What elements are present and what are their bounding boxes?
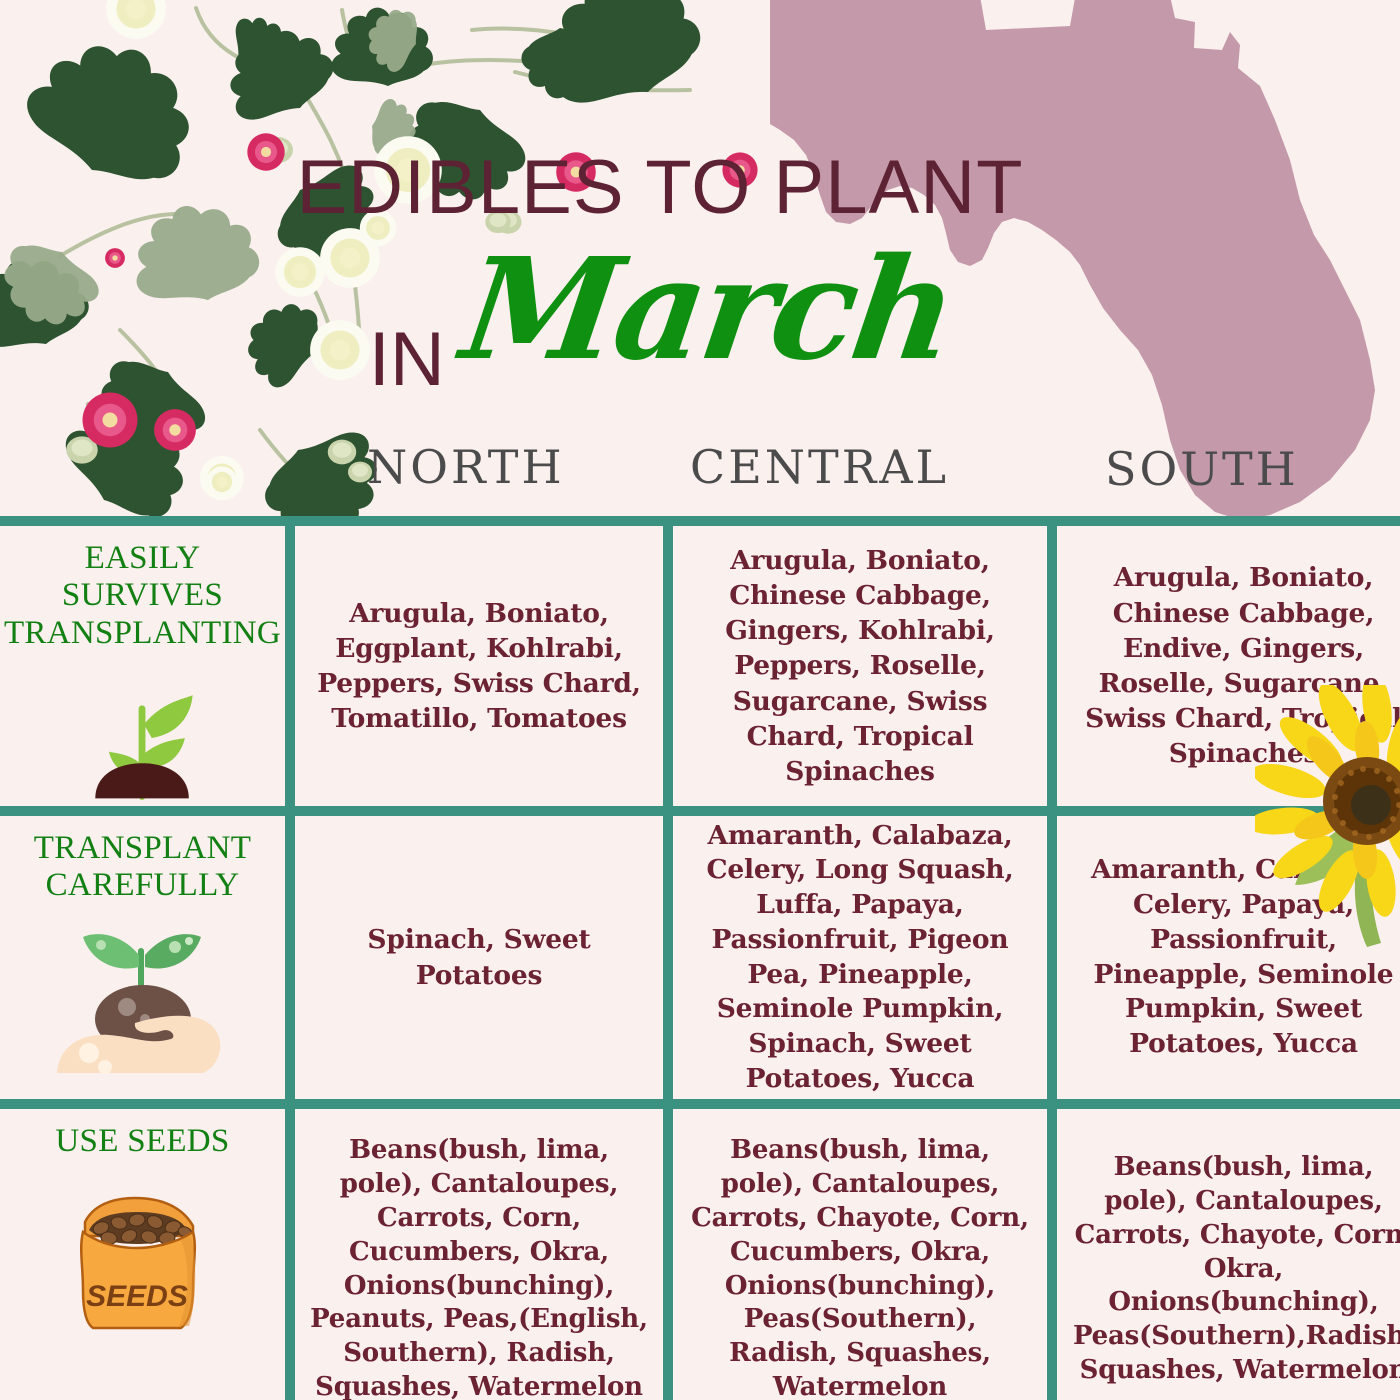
row-label-text: TRANSPLANT CAREFULLY: [34, 830, 252, 905]
plant-list-central-3: Beans(bush, lima, pole), Cantaloupes, Ca…: [673, 1130, 1047, 1400]
row-label-cell-easily-survives-transplanting: EASILY SURVIVES TRANSPLANTING: [0, 526, 285, 806]
row-label-text: USE SEEDS: [55, 1123, 229, 1160]
plant-list-north-1: Arugula, Boniato, Eggplant, Kohlrabi, Pe…: [295, 592, 663, 741]
hand-holding-seedling-icon: [53, 915, 233, 1075]
seed-bag-icon: SEEDS: [53, 1170, 233, 1335]
cell-central-row2: Amaranth, Calabaza, Celery, Long Squash,…: [673, 816, 1047, 1099]
cell-central-row1: Arugula, Boniato, Chinese Cabbage, Ginge…: [673, 526, 1047, 806]
cell-central-row3: Beans(bush, lima, pole), Cantaloupes, Ca…: [673, 1109, 1047, 1400]
page-title: EDIBLES TO PLANT: [250, 150, 1070, 226]
row-label-text: EASILY SURVIVES TRANSPLANTING: [4, 540, 281, 652]
cell-north-row2: Spinach, Sweet Potatoes: [295, 816, 663, 1099]
cell-north-row3: Beans(bush, lima, pole), Cantaloupes, Ca…: [295, 1109, 663, 1400]
plant-list-south-3: Beans(bush, lima, pole), Cantaloupes, Ca…: [1057, 1147, 1400, 1392]
cell-north-row1: Arugula, Boniato, Eggplant, Kohlrabi, Pe…: [295, 526, 663, 806]
plant-list-south-1: Arugula, Boniato, Chinese Cabbage, Endiv…: [1057, 556, 1400, 775]
row-label-cell-use-seeds: USE SEEDS SEEDS: [0, 1109, 285, 1400]
plant-list-north-2: Spinach, Sweet Potatoes: [295, 918, 663, 996]
region-header-north: NORTH: [367, 440, 565, 494]
title-month-word: March: [455, 240, 961, 380]
cell-south-row1: Arugula, Boniato, Chinese Cabbage, Endiv…: [1057, 526, 1400, 806]
title-block: EDIBLES TO PLANT IN March: [250, 150, 1070, 380]
seedling-icon: [68, 662, 218, 806]
plant-list-central-2: Amaranth, Calabaza, Celery, Long Squash,…: [673, 816, 1047, 1099]
region-header-row: NORTH CENTRAL SOUTH: [0, 440, 1400, 520]
plant-list-north-3: Beans(bush, lima, pole), Cantaloupes, Ca…: [295, 1130, 663, 1400]
seed-bag-label: SEEDS: [86, 1280, 188, 1313]
planting-table: EASILY SURVIVES TRANSPLANTING Arugula, B…: [0, 516, 1400, 1400]
cell-south-row2: Amaranth, Calabaza, Celery, Papaya, Pass…: [1057, 816, 1400, 1099]
plant-list-central-1: Arugula, Boniato, Chinese Cabbage, Ginge…: [673, 539, 1047, 794]
title-in-word: IN: [369, 322, 445, 398]
cell-south-row3: Beans(bush, lima, pole), Cantaloupes, Ca…: [1057, 1109, 1400, 1400]
title-second-line: IN March: [250, 240, 1070, 380]
region-header-south: SOUTH: [1105, 442, 1299, 496]
infographic-canvas: EDIBLES TO PLANT IN March NORTH CENTRAL …: [0, 0, 1400, 1400]
row-label-cell-transplant-carefully: TRANSPLANT CAREFULLY: [0, 816, 285, 1099]
region-header-central: CENTRAL: [690, 440, 949, 494]
plant-list-south-2: Amaranth, Calabaza, Celery, Papaya, Pass…: [1057, 849, 1400, 1065]
